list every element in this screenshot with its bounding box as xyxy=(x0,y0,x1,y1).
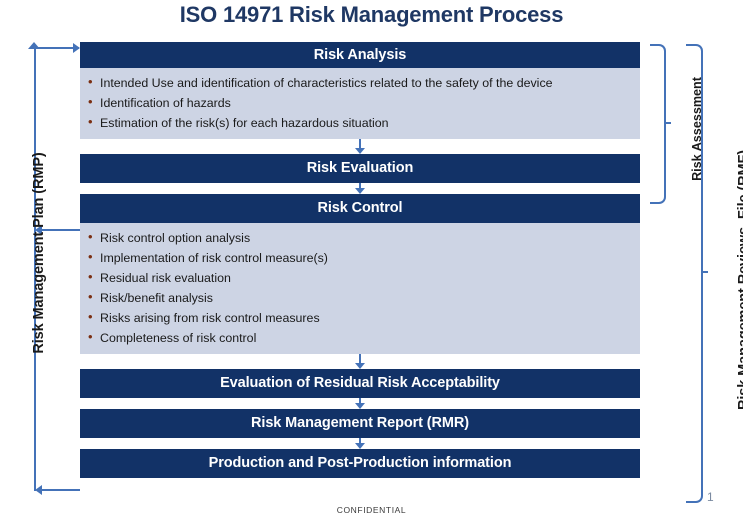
flow-arrow-4 xyxy=(80,398,640,409)
rmp-connector-from-production xyxy=(42,489,80,491)
flow-arrow-5 xyxy=(80,438,640,449)
bullet-item: Risks arising from risk control measures xyxy=(88,308,632,328)
bullet-item: Risk/benefit analysis xyxy=(88,288,632,308)
arrow-left-icon-production xyxy=(35,485,42,495)
process-box-risk-management-report[interactable]: Risk Management Report (RMR) xyxy=(80,409,640,438)
arrow-right-icon-risk-analysis xyxy=(73,43,80,53)
process-flow: Risk Analysis Intended Use and identific… xyxy=(80,42,640,478)
process-box-risk-evaluation[interactable]: Risk Evaluation xyxy=(80,154,640,183)
arrow-down-icon xyxy=(354,398,366,409)
bullet-item: Residual risk evaluation xyxy=(88,268,632,288)
confidential-footer: CONFIDENTIAL xyxy=(0,505,743,515)
risk-management-plan-label: Risk Management Plan (RMP) xyxy=(31,138,47,368)
bullet-item: Intended Use and identification of chara… xyxy=(88,73,632,93)
process-box-residual-risk-acceptability[interactable]: Evaluation of Residual Risk Acceptabilit… xyxy=(80,369,640,398)
page-number: 1 xyxy=(707,490,714,504)
bullet-item: Completeness of risk control xyxy=(88,328,632,348)
bullet-item: Estimation of the risk(s) for each hazar… xyxy=(88,113,632,133)
risk-assessment-bracket xyxy=(650,44,666,204)
risk-management-reviews-file-label: Risk Management Reviews, File (RMF) xyxy=(736,130,743,430)
rmf-bracket-nub xyxy=(701,271,708,273)
arrow-down-icon xyxy=(354,438,366,449)
rmf-bracket xyxy=(686,44,703,503)
arrow-down-icon xyxy=(354,139,366,154)
bullet-item: Implementation of risk control measure(s… xyxy=(88,248,632,268)
arrow-down-icon xyxy=(354,354,366,369)
arrow-down-icon xyxy=(354,183,366,194)
risk-assessment-bracket-nub xyxy=(664,122,671,124)
rmp-connector-from-risk-control xyxy=(42,229,80,231)
bullet-item: Identification of hazards xyxy=(88,93,632,113)
flow-arrow-3 xyxy=(80,354,640,369)
bullet-item: Risk control option analysis xyxy=(88,228,632,248)
process-box-production-post-production[interactable]: Production and Post-Production informati… xyxy=(80,449,640,478)
process-details-risk-control: Risk control option analysis Implementat… xyxy=(80,223,640,354)
process-details-risk-analysis: Intended Use and identification of chara… xyxy=(80,68,640,139)
process-box-risk-analysis[interactable]: Risk Analysis xyxy=(80,42,640,68)
page-title: ISO 14971 Risk Management Process xyxy=(0,2,743,28)
flow-arrow-1 xyxy=(80,139,640,154)
flow-arrow-2 xyxy=(80,183,640,194)
process-box-risk-control[interactable]: Risk Control xyxy=(80,194,640,223)
